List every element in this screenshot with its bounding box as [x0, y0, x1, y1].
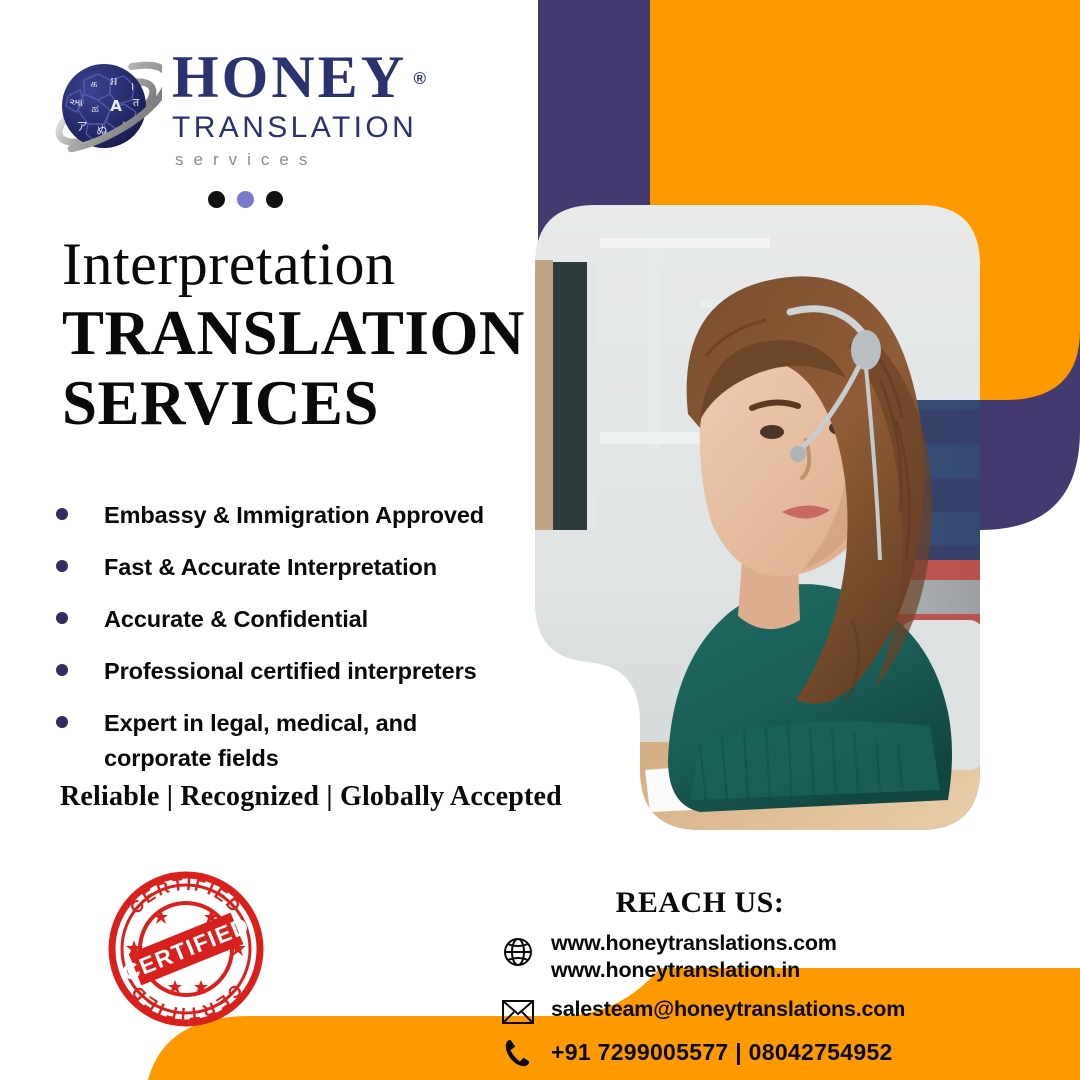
feature-text: Expert in legal, medical, and corporate …: [104, 706, 444, 776]
globe-languages-icon: க អ । આ ಹ A त ア ぬ ᚠ: [50, 54, 162, 166]
page-title: Interpretation TRANSLATION SERVICES: [62, 232, 532, 436]
svg-text:CERTIFIED: CERTIFIED: [126, 875, 246, 918]
feature-text: Professional certified interpreters: [104, 654, 477, 689]
decorative-dots: [208, 191, 283, 208]
svg-text:त: त: [133, 96, 140, 109]
website-lines[interactable]: www.honeytranslations.com www.honeytrans…: [541, 930, 837, 984]
registered-trademark-icon: ®: [414, 48, 430, 110]
svg-text:આ: આ: [69, 96, 83, 109]
feature-text: Accurate & Confidential: [104, 602, 368, 637]
dot-3: [266, 191, 283, 208]
feature-list: Embassy & Immigration Approved Fast & Ac…: [56, 498, 556, 793]
contact-row-email[interactable]: salesteam@honeytranslations.com: [495, 996, 905, 1025]
website-url-2[interactable]: www.honeytranslation.in: [541, 957, 837, 984]
list-item: Accurate & Confidential: [56, 602, 556, 637]
tagline: Reliable | Recognized | Globally Accepte…: [60, 780, 562, 814]
website-url-1[interactable]: www.honeytranslations.com: [541, 930, 837, 957]
certified-stamp-icon: CERTIFIED CERTIFIED CERTIFIED: [105, 868, 267, 1030]
envelope-icon: [495, 996, 541, 1025]
contact-list: www.honeytranslations.com www.honeytrans…: [495, 930, 905, 1074]
bullet-dot-icon: [56, 560, 68, 572]
logo-name-main: HONEY ®: [172, 46, 407, 108]
logo-name-sub: TRANSLATION: [172, 110, 472, 146]
brand-logo[interactable]: க អ । આ ಹ A त ア ぬ ᚠ HONEY ® TRANSLATION …: [50, 46, 470, 176]
svg-text:ಹ: ಹ: [91, 102, 99, 115]
list-item: Professional certified interpreters: [56, 654, 556, 689]
list-item: Fast & Accurate Interpretation: [56, 550, 556, 585]
phone-numbers[interactable]: +91 7299005577 | 08042754952: [541, 1035, 893, 1066]
email-address[interactable]: salesteam@honeytranslations.com: [541, 996, 905, 1023]
logo-name-tag: services: [172, 148, 472, 172]
feature-text: Embassy & Immigration Approved: [104, 498, 484, 533]
bullet-dot-icon: [56, 716, 68, 728]
dot-1: [208, 191, 225, 208]
bullet-dot-icon: [56, 612, 68, 624]
contact-row-phone[interactable]: +91 7299005577 | 08042754952: [495, 1035, 905, 1068]
svg-text:ア: ア: [77, 120, 88, 133]
svg-text:A: A: [110, 97, 122, 115]
feature-text: Fast & Accurate Interpretation: [104, 550, 437, 585]
svg-text:க: க: [90, 77, 97, 90]
reach-us-title: REACH US:: [420, 886, 980, 920]
dot-2: [237, 191, 254, 208]
list-item: Embassy & Immigration Approved: [56, 498, 556, 533]
headline-bold-line-2: SERVICES: [62, 370, 532, 436]
bullet-dot-icon: [56, 508, 68, 520]
headline-script-line: Interpretation: [62, 232, 532, 296]
poster-canvas: க អ । આ ಹ A त ア ぬ ᚠ HONEY ® TRANSLATION …: [0, 0, 1080, 1080]
reach-us-panel: REACH US: www.honeytranslations.com www.…: [420, 872, 1080, 1080]
headline-bold-line-1: TRANSLATION: [62, 300, 532, 366]
bullet-dot-icon: [56, 664, 68, 676]
contact-row-website[interactable]: www.honeytranslations.com www.honeytrans…: [495, 930, 905, 984]
svg-text:।: ।: [130, 80, 134, 93]
svg-text:CERTIFIED: CERTIFIED: [126, 980, 246, 1023]
globe-icon: [495, 930, 541, 968]
logo-name-main-text: HONEY: [172, 44, 407, 110]
list-item: Expert in legal, medical, and corporate …: [56, 706, 556, 776]
phone-icon: [495, 1035, 541, 1068]
svg-text:អ: អ: [111, 75, 118, 88]
